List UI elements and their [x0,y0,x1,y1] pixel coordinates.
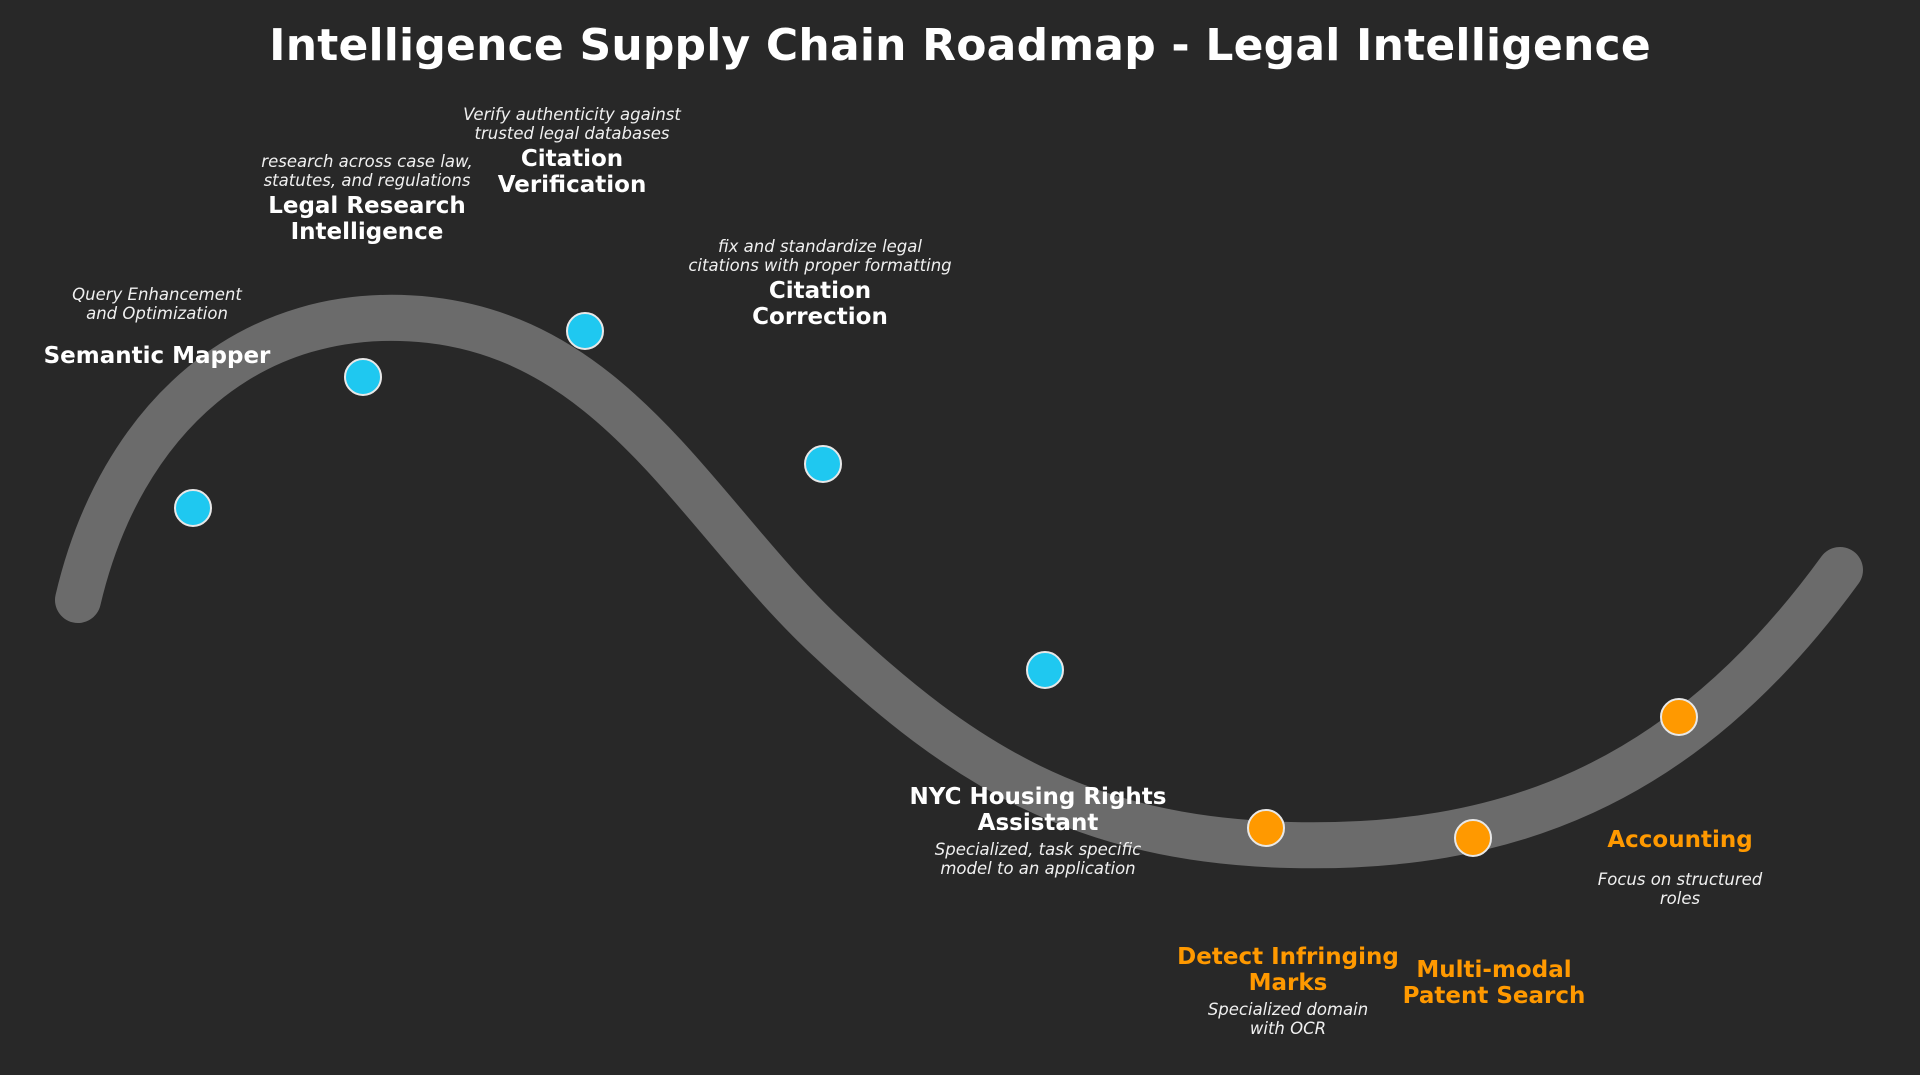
label-citation-correction[interactable]: fix and standardize legal citations with… [672,237,968,330]
label-citation-verification-desc: Verify authenticity against trusted lega… [438,105,706,144]
node-semantic-mapper[interactable] [174,489,212,527]
label-citation-correction-title: Citation Correction [672,279,968,331]
label-citation-verification-title: Citation Verification [438,147,706,199]
label-accounting-desc: Focus on structured roles [1540,870,1820,909]
label-nyc-housing-rights-assistant[interactable]: NYC Housing Rights Assistant Specialized… [898,785,1178,878]
label-nyc-housing-title: NYC Housing Rights Assistant [898,785,1178,837]
node-citation-correction[interactable] [804,445,842,483]
node-accounting[interactable] [1660,698,1698,736]
label-patent-search-title: Multi-modal Patent Search [1360,958,1628,1010]
label-semantic-mapper[interactable]: Query Enhancement and Optimization Seman… [28,285,286,370]
label-accounting-title: Accounting [1540,828,1820,854]
label-semantic-mapper-desc: Query Enhancement and Optimization [28,285,286,324]
s-curve-path [78,318,1840,845]
node-legal-research-intelligence[interactable] [344,358,382,396]
label-citation-correction-desc: fix and standardize legal citations with… [672,237,968,276]
label-accounting[interactable]: Accounting Focus on structured roles [1540,828,1820,909]
node-detect-infringing-marks[interactable] [1247,809,1285,847]
label-citation-verification[interactable]: Verify authenticity against trusted lega… [438,105,706,198]
node-multi-modal-patent-search[interactable] [1454,819,1492,857]
label-nyc-housing-desc: Specialized, task specific model to an a… [898,840,1178,879]
label-multi-modal-patent-search[interactable]: Multi-modal Patent Search [1360,958,1628,1013]
node-citation-verification[interactable] [566,312,604,350]
label-semantic-mapper-title: Semantic Mapper [28,344,286,370]
label-legal-research-title: Legal Research Intelligence [228,194,506,246]
page-title: Intelligence Supply Chain Roadmap - Lega… [0,20,1920,71]
node-nyc-housing-rights-assistant[interactable] [1026,651,1064,689]
roadmap-canvas: Intelligence Supply Chain Roadmap - Lega… [0,0,1920,1075]
